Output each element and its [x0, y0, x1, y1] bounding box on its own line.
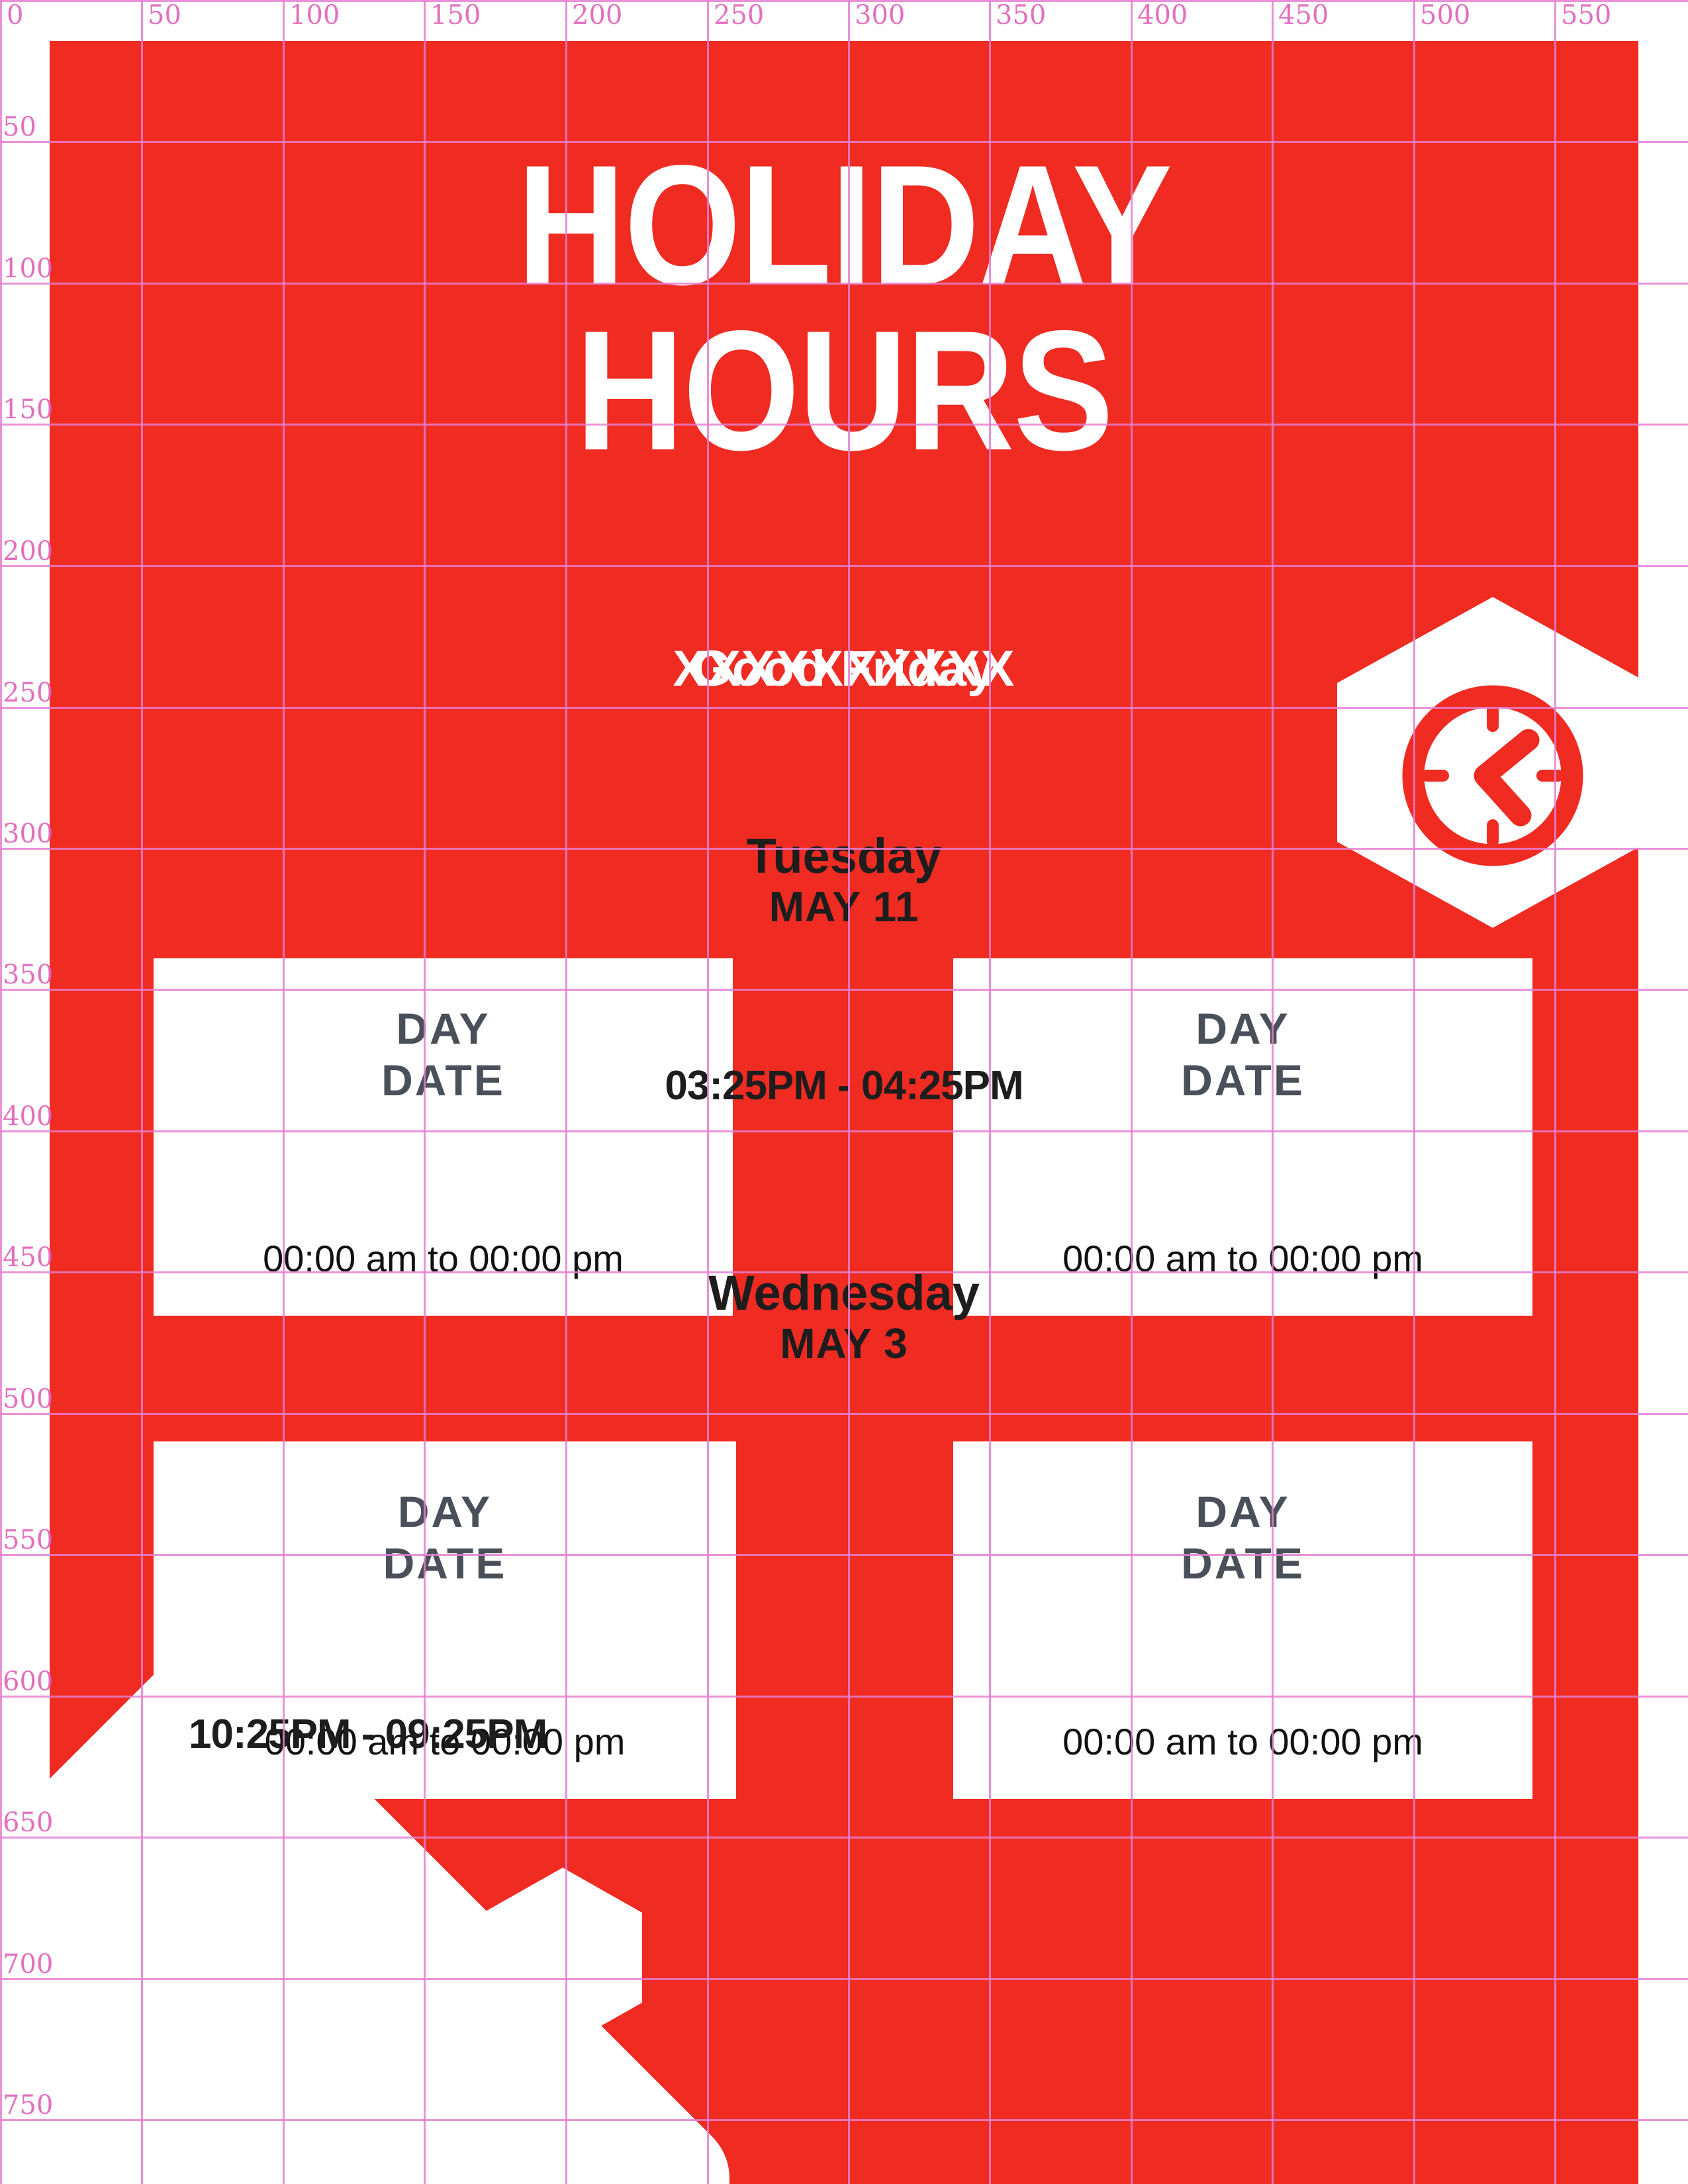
card-headings: DAY DATE — [973, 1457, 1513, 1590]
grid-label-x: 450 — [1278, 0, 1329, 30]
grid-label-y: 50 — [3, 112, 36, 142]
hours-card-bottom-right[interactable]: DAY DATE 00:00 am to 00:00 pm — [953, 1441, 1532, 1799]
grid-label-y: 650 — [3, 1807, 53, 1838]
overlay-time-range-1: 03:25PM - 04:25PM — [0, 1062, 1688, 1109]
grid-label-x: 250 — [714, 0, 764, 30]
grid-label-x: 350 — [996, 0, 1046, 30]
grid-label-y: 700 — [3, 1949, 53, 1979]
grid-label-y: 600 — [3, 1666, 53, 1697]
grid-line-horizontal — [0, 0, 1688, 2]
grid-label-x: 50 — [148, 0, 181, 30]
grid-label-y: 550 — [3, 1525, 53, 1555]
grid-label-x: 200 — [572, 0, 622, 30]
grid-label-x: 550 — [1561, 0, 1611, 30]
corner-notch-block — [50, 2000, 526, 2184]
card-day-label: DAY — [973, 1486, 1513, 1538]
subtitle-group: XXXXXXXXXX Good Friday — [50, 640, 1638, 713]
overlay-day-block-2: Wednesday MAY 3 — [0, 1267, 1688, 1369]
grid-label-y: 350 — [3, 960, 53, 990]
card-date-label: DATE — [973, 1538, 1513, 1590]
overlay-weekday-2: Wednesday — [0, 1267, 1688, 1319]
card-hours-value: 00:00 am to 00:00 pm — [973, 1720, 1513, 1783]
grid-label-x: 500 — [1420, 0, 1470, 30]
card-day-label: DAY — [173, 1486, 716, 1538]
overlay-weekday-1: Tuesday — [0, 831, 1688, 882]
grid-label-x: 0 — [7, 0, 23, 30]
grid-label-x: 100 — [289, 0, 340, 30]
hours-card-top-left[interactable]: DAY DATE 00:00 am to 00:00 pm — [154, 958, 733, 1316]
grid-label-x: 400 — [1137, 0, 1188, 30]
overlay-day-block-1: Tuesday MAY 11 — [0, 831, 1688, 932]
overlay-date-1: MAY 11 — [0, 882, 1688, 931]
overlay-date-2: MAY 3 — [0, 1319, 1688, 1368]
subtitle-holiday-name: Good Friday — [50, 640, 1638, 698]
grid-label-y: 200 — [3, 536, 53, 567]
page-title-line1: HOLIDAY — [145, 144, 1543, 306]
card-day-label: DAY — [973, 1003, 1513, 1055]
card-day-label: DAY — [173, 1003, 713, 1055]
grid-label-y: 150 — [3, 394, 53, 425]
hours-card-top-right[interactable]: DAY DATE 00:00 am to 00:00 pm — [953, 958, 1532, 1316]
grid-label-y: 100 — [3, 253, 53, 284]
overlay-time-range-2: 10:25PM - 09:25PM — [189, 1711, 547, 1758]
grid-label-x: 150 — [430, 0, 481, 30]
grid-label-x: 300 — [855, 0, 905, 30]
grid-label-y: 250 — [3, 678, 53, 708]
card-date-label: DATE — [173, 1538, 716, 1590]
page-title-line2: HOURS — [145, 309, 1543, 471]
grid-label-y: 750 — [3, 2090, 53, 2120]
card-headings: DAY DATE — [173, 1457, 716, 1590]
grid-label-y: 500 — [3, 1384, 53, 1414]
